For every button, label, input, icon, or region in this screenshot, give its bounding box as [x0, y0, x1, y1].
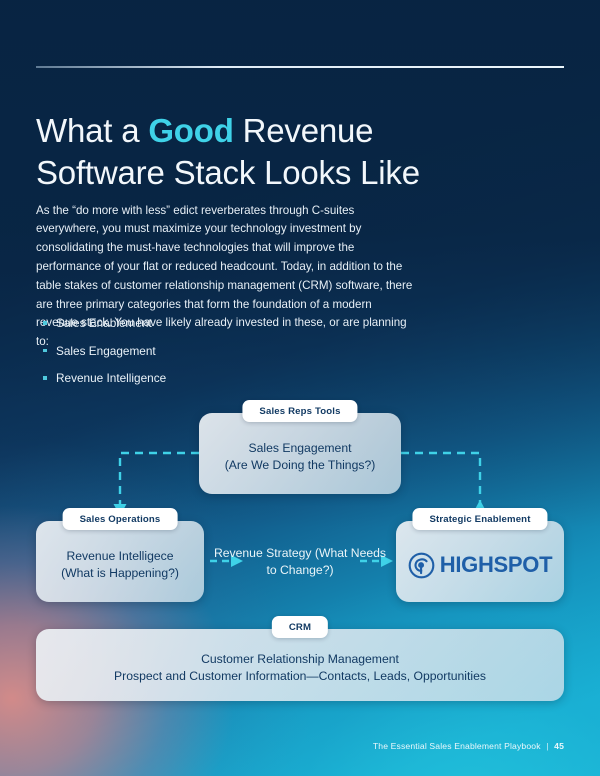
- node-body-text: Sales Engagement (Are We Doing the Thing…: [199, 433, 401, 475]
- diagram-node-sales-reps-tools[interactable]: Sales Reps Tools Sales Engagement (Are W…: [199, 413, 401, 494]
- node-line-1: Sales Engagement: [199, 440, 401, 457]
- connector-right-path: [401, 453, 480, 508]
- node-line-2: Prospect and Customer Information—Contac…: [36, 669, 564, 686]
- node-body-text: Revenue Intelligece (What is Happening?): [36, 541, 204, 583]
- footer-separator: |: [546, 741, 548, 751]
- diagram-node-strategic-enablement[interactable]: Strategic Enablement HIGHSPOT: [396, 521, 564, 602]
- list-item: Revenue Intelligence: [40, 371, 340, 385]
- node-tab-label: Sales Reps Tools: [242, 400, 357, 422]
- page-canvas: What a Good RevenueSoftware Stack Looks …: [0, 0, 600, 776]
- node-line-1: Customer Relationship Management: [36, 651, 564, 668]
- headline-accent-word: Good: [148, 112, 233, 149]
- headline-part2: Revenue: [234, 112, 374, 149]
- bullet-label: Sales Engagement: [56, 344, 156, 358]
- header-divider-rule: [36, 66, 564, 68]
- diagram-center-label: Revenue Strategy (What Needs to Change?): [212, 545, 388, 580]
- node-tab-label: CRM: [272, 616, 328, 638]
- page-title: What a Good RevenueSoftware Stack Looks …: [36, 110, 506, 194]
- list-item: Sales Enablement: [40, 316, 340, 330]
- highspot-logo: HIGHSPOT: [396, 545, 564, 579]
- node-body-text: Customer Relationship Management Prospec…: [36, 644, 564, 686]
- highspot-mark-icon: [408, 552, 435, 579]
- connector-left-path: [120, 453, 199, 508]
- node-tab-label: Sales Operations: [63, 508, 178, 530]
- headline-part1: What a: [36, 112, 148, 149]
- node-line-2: (Are We Doing the Things?): [199, 457, 401, 474]
- footer-title: The Essential Sales Enablement Playbook: [373, 741, 541, 751]
- highspot-wordmark: HIGHSPOT: [440, 552, 553, 578]
- node-line-1: Revenue Intelligece: [36, 548, 204, 565]
- bullet-label: Sales Enablement: [56, 316, 152, 330]
- node-line-2: (What is Happening?): [36, 565, 204, 582]
- center-line-1: Revenue Strategy: [214, 546, 312, 560]
- node-tab-label: Strategic Enablement: [412, 508, 547, 530]
- footer-page-number: 45: [554, 741, 564, 751]
- list-item: Sales Engagement: [40, 344, 340, 358]
- category-bullet-list: Sales Enablement Sales Engagement Revenu…: [40, 316, 340, 399]
- revenue-stack-diagram: Sales Reps Tools Sales Engagement (Are W…: [0, 390, 600, 710]
- diagram-node-crm[interactable]: CRM Customer Relationship Management Pro…: [36, 629, 564, 701]
- page-footer: The Essential Sales Enablement Playbook …: [373, 741, 564, 751]
- bullet-label: Revenue Intelligence: [56, 371, 166, 385]
- headline-line2: Software Stack Looks Like: [36, 154, 420, 191]
- diagram-node-sales-operations[interactable]: Sales Operations Revenue Intelligece (Wh…: [36, 521, 204, 602]
